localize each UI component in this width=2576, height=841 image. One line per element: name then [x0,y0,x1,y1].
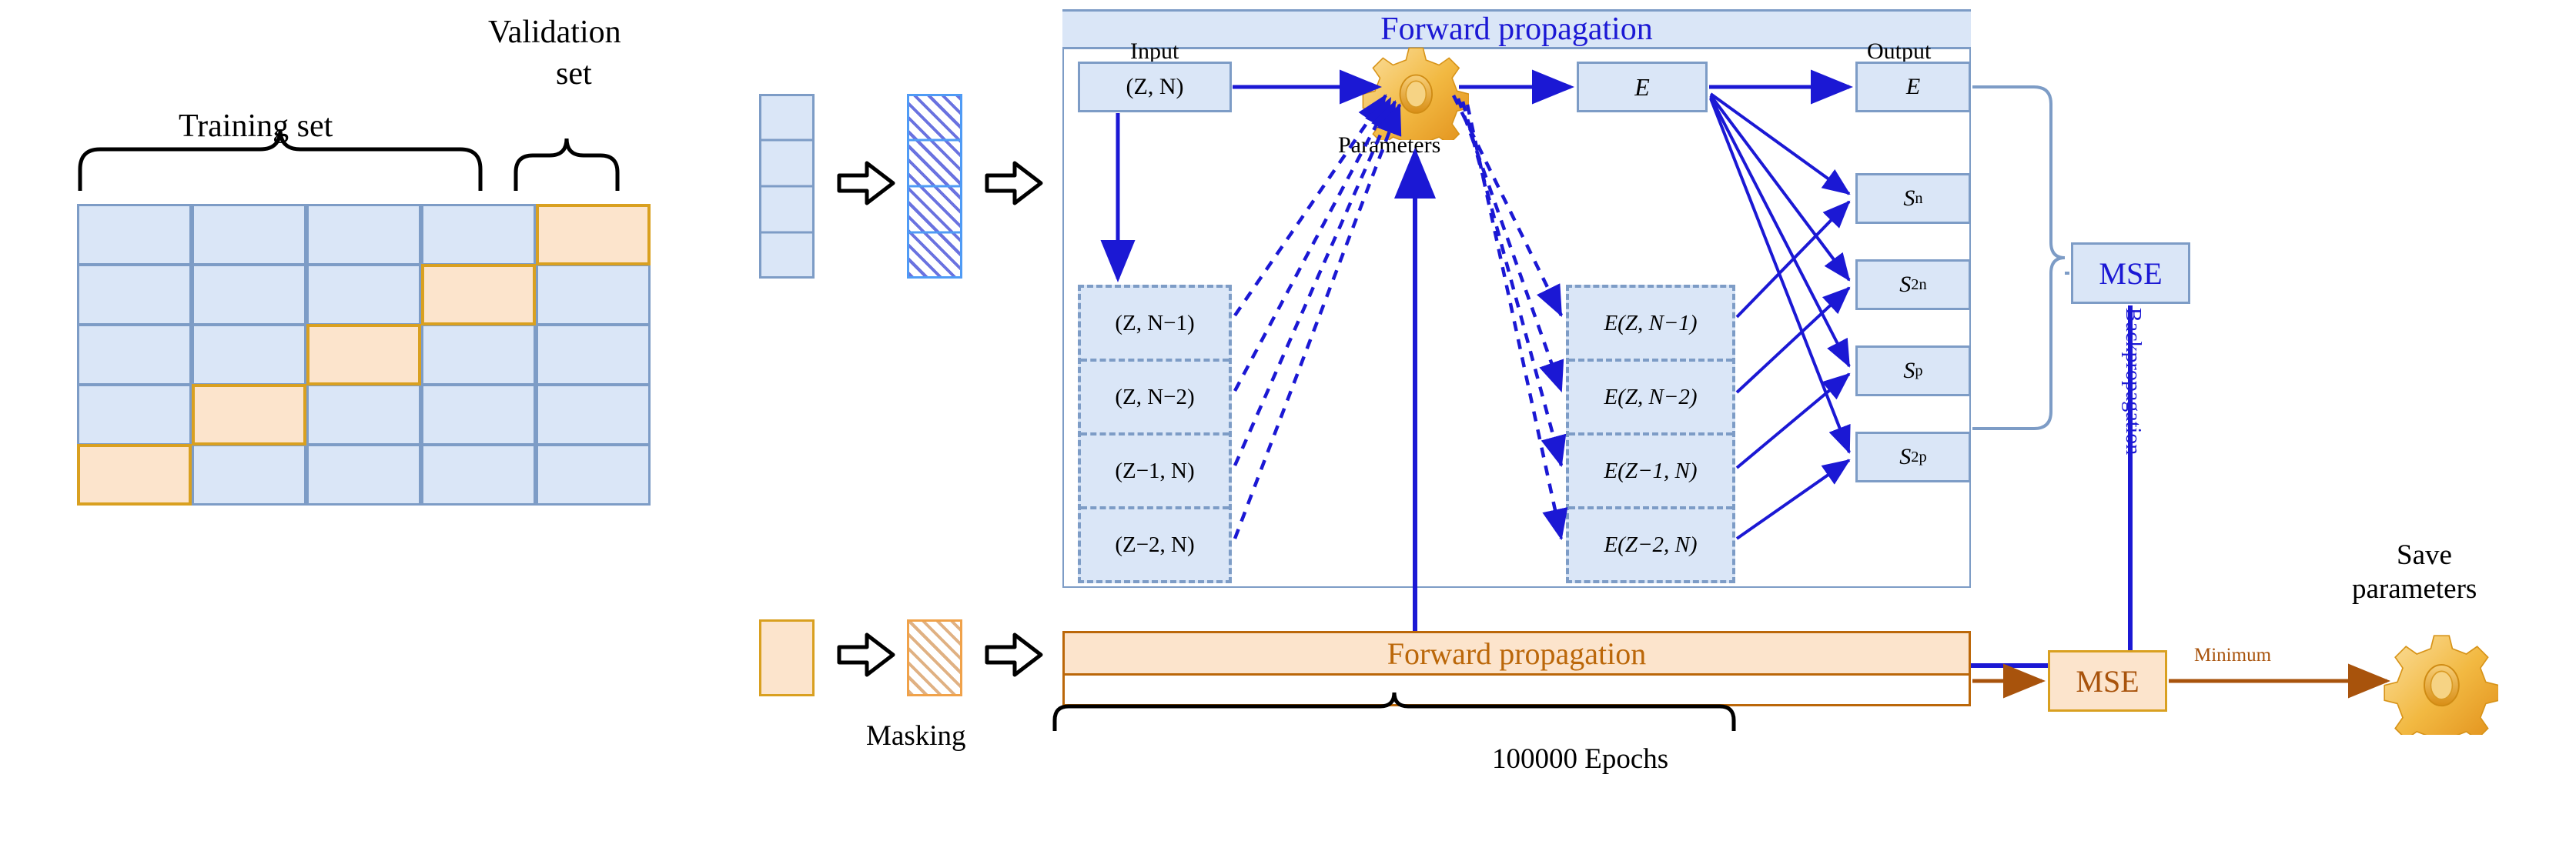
input-variants-column[interactable]: (Z, N−1) (Z, N−2) (Z−1, N) (Z−2, N) [1078,285,1232,583]
energy-box-main-label: E [1634,73,1650,102]
input-variant-2[interactable]: (Z, N−2) [1081,362,1229,436]
masked-training-vector[interactable] [907,94,962,279]
parameters-gear-icon [1361,40,1469,140]
fold-cell-train[interactable] [536,384,651,446]
fold-cell-train[interactable] [421,324,536,385]
fold-cell-train[interactable] [192,264,306,325]
fold-cell-validation[interactable] [306,324,421,385]
validation-vector[interactable] [759,619,815,696]
fold-row[interactable] [77,264,651,325]
fold-cell-validation[interactable] [192,384,306,446]
energy-variant-4[interactable]: E(Z−2, N) [1569,509,1732,580]
mse-box-top-label: MSE [2099,255,2162,292]
minimum-label: Minimum [2194,645,2271,666]
output-box-S2p-sub: 2p [1911,449,1926,466]
input-variant-3[interactable]: (Z−1, N) [1081,436,1229,509]
energy-variant-2[interactable]: E(Z, N−2) [1569,362,1732,436]
training-vector-column[interactable] [759,94,815,279]
energy-box-main[interactable]: E [1577,62,1708,112]
output-box-E-label: E [1906,74,1920,100]
masked-validation-vector[interactable] [907,619,962,696]
output-box-Sn-sub: n [1915,190,1922,208]
energy-variants-column[interactable]: E(Z, N−1) E(Z, N−2) E(Z−1, N) E(Z−2, N) [1566,285,1735,583]
output-box-Sp-base: S [1903,358,1915,384]
fold-cell-train[interactable] [536,444,651,506]
training-set-label: Training set [179,108,333,145]
forward-propagation-bottom-base [1062,676,1971,706]
output-label: Output [1867,38,1931,65]
fold-cell-train[interactable] [192,204,306,265]
validation-set-label-line1: Validation [488,14,621,51]
output-box-S2p-base: S [1899,444,1911,470]
masking-label: Masking [866,719,966,753]
output-box-E[interactable]: E [1855,62,1971,112]
fold-cell-validation[interactable] [421,264,536,325]
output-box-Sn[interactable]: Sn [1855,173,1971,224]
input-box-main[interactable]: (Z, N) [1078,62,1232,112]
output-box-Sp-sub: p [1915,362,1922,380]
input-label: Input [1130,38,1179,65]
output-box-S2p[interactable]: S2p [1855,432,1971,482]
epochs-label: 100000 Epochs [1492,743,1668,776]
fold-cell-train[interactable] [536,264,651,325]
fold-cell-train[interactable] [306,384,421,446]
output-box-S2n-sub: 2n [1911,276,1926,294]
save-parameters-label-line1: Save [2397,539,2452,572]
fold-cell-train[interactable] [192,444,306,506]
mse-box-bottom[interactable]: MSE [2048,650,2167,712]
output-box-S2n-base: S [1899,272,1911,298]
output-box-Sp[interactable]: Sp [1855,345,1971,396]
fold-cell-train[interactable] [536,324,651,385]
parameters-label: Parameters [1338,132,1440,159]
save-parameters-label-line2: parameters [2352,572,2477,606]
fold-cell-train[interactable] [306,204,421,265]
energy-variant-3[interactable]: E(Z−1, N) [1569,436,1732,509]
fold-cell-train[interactable] [77,384,192,446]
fold-row[interactable] [77,444,651,506]
mse-box-bottom-label: MSE [2076,663,2139,699]
output-box-S2n[interactable]: S2n [1855,259,1971,310]
fold-cell-train[interactable] [306,444,421,506]
fold-cell-train[interactable] [192,324,306,385]
fold-row[interactable] [77,204,651,265]
fold-cell-train[interactable] [77,324,192,385]
input-variant-1[interactable]: (Z, N−1) [1081,288,1229,362]
fold-row[interactable] [77,384,651,446]
fold-row[interactable] [77,324,651,385]
energy-variant-1[interactable]: E(Z, N−1) [1569,288,1732,362]
fold-cell-validation[interactable] [77,444,192,506]
validation-set-label-line2: set [556,55,592,92]
fold-cell-validation[interactable] [536,204,651,265]
save-parameters-gear-icon [2383,627,2498,735]
fold-cell-train[interactable] [421,384,536,446]
input-variant-4[interactable]: (Z−2, N) [1081,509,1229,580]
fold-cell-train[interactable] [77,204,192,265]
mse-box-top[interactable]: MSE [2071,242,2190,304]
fold-cell-train[interactable] [421,204,536,265]
input-box-main-label: (Z, N) [1126,74,1184,100]
fold-cell-train[interactable] [77,264,192,325]
forward-propagation-header: Forward propagation [1062,9,1971,49]
fold-cell-train[interactable] [306,264,421,325]
forward-propagation-bottom-title: Forward propagation [1387,636,1647,672]
fold-cell-train[interactable] [421,444,536,506]
output-box-Sn-base: S [1903,185,1915,212]
forward-propagation-bottom[interactable]: Forward propagation [1062,631,1971,676]
backpropagation-label: Backpropagation [2120,308,2145,455]
